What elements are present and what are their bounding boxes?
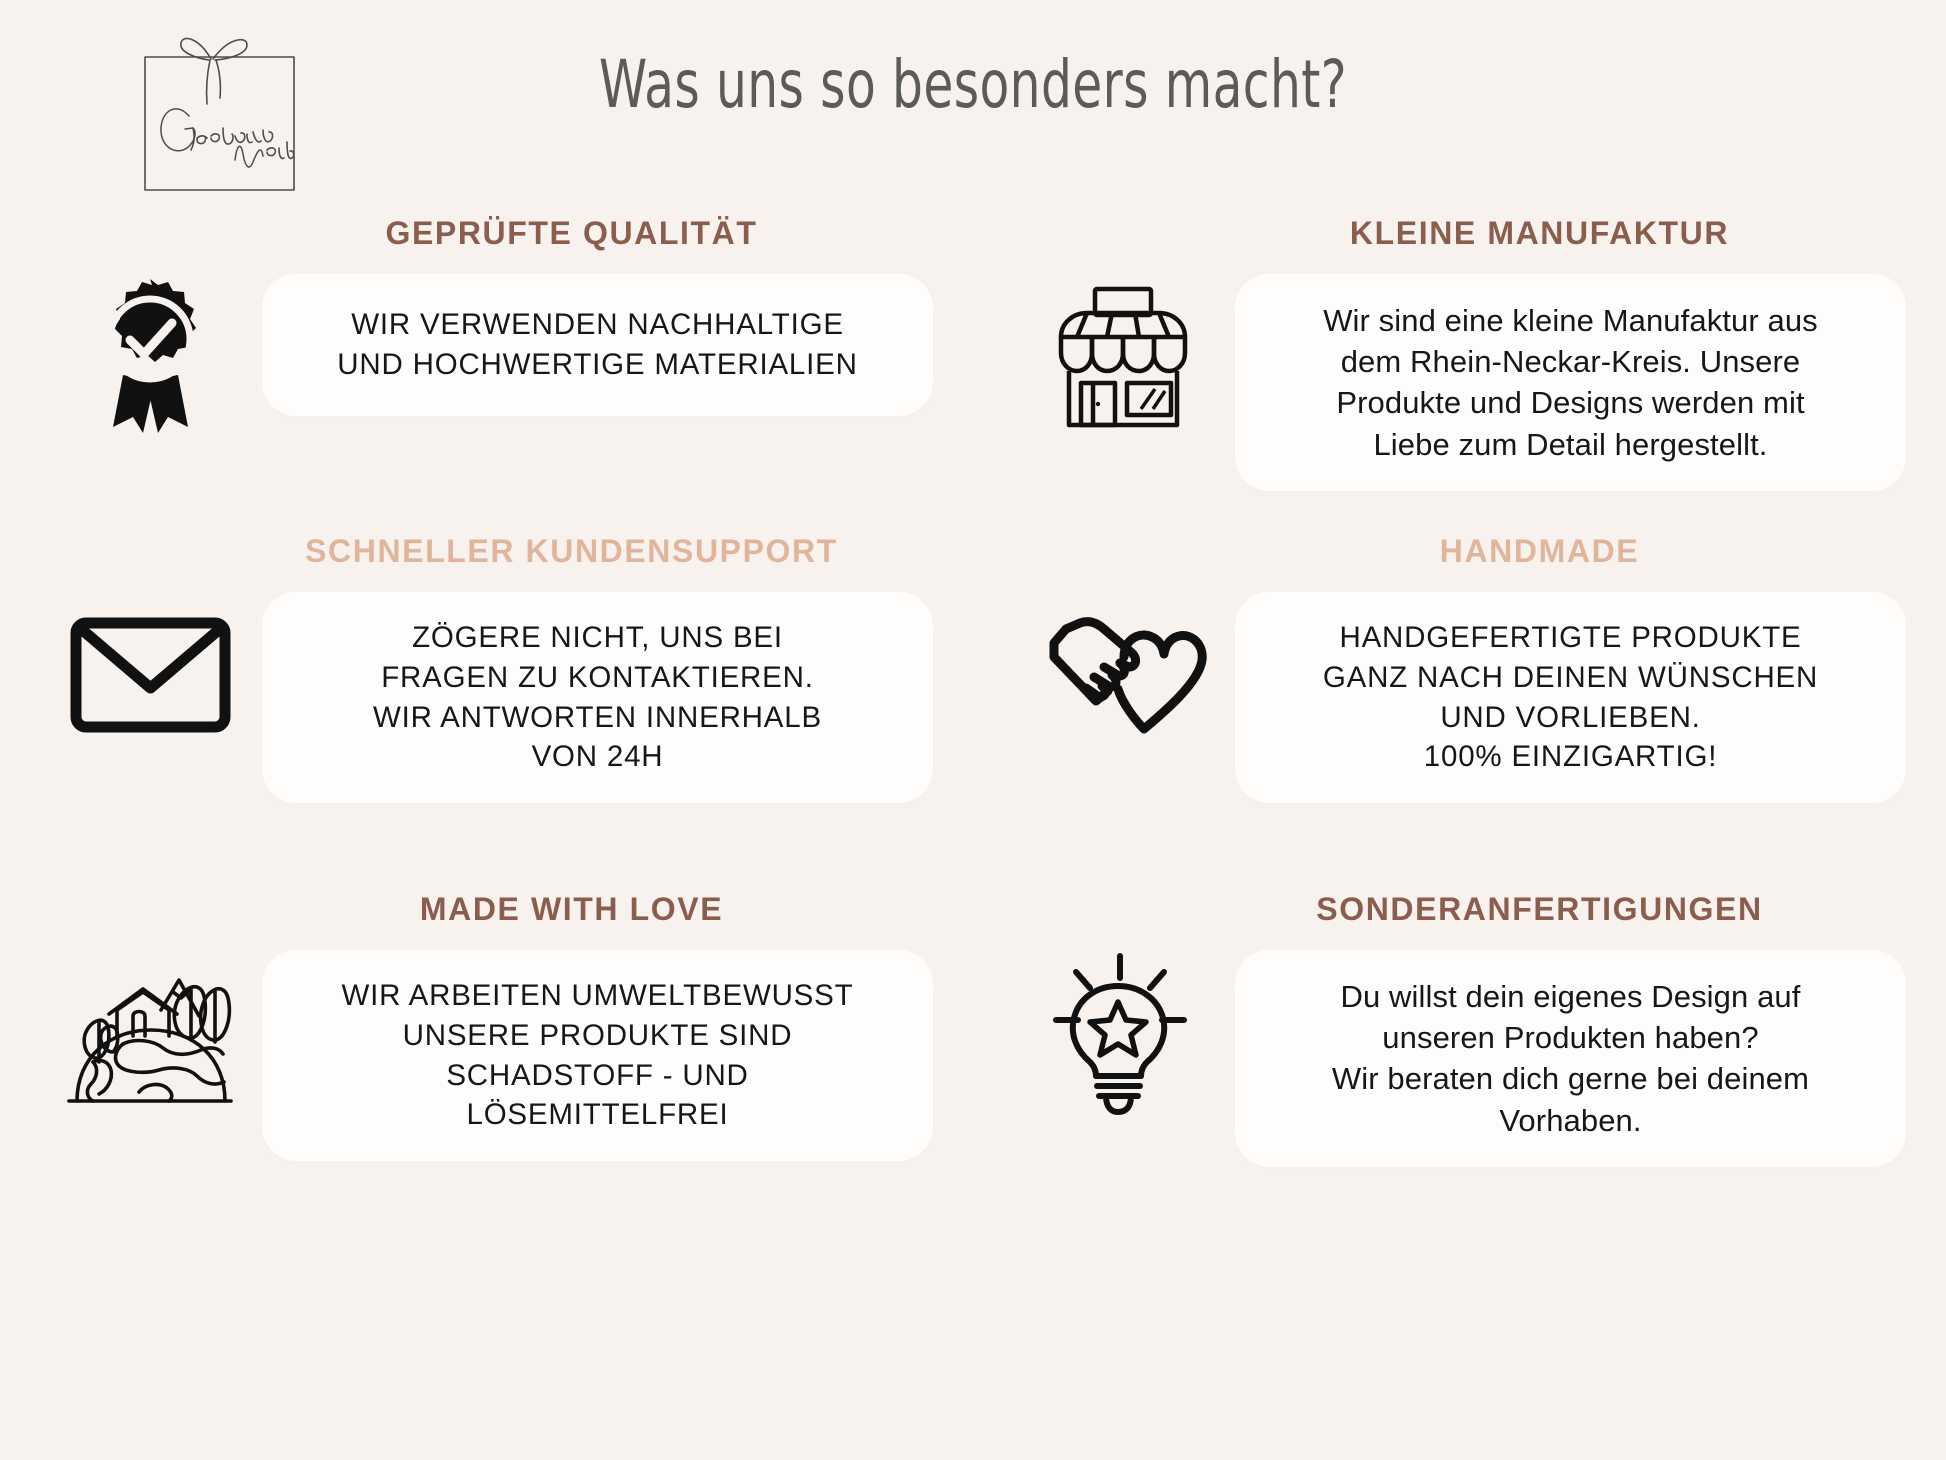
page-header: Was uns so besonders macht? <box>0 0 1946 200</box>
feature-bubble-made-with-love: WIR ARBEITEN UMWELTBEWUSST UNSERE PRODUK… <box>262 950 933 1161</box>
feature-bubble-handmade: HANDGEFERTIGTE PRODUKTE GANZ NACH DEINEN… <box>1235 592 1906 803</box>
feature-text-made-with-love: WIR ARBEITEN UMWELTBEWUSST UNSERE PRODUK… <box>342 976 854 1135</box>
feature-card-made-with-love: MADE WITH LOVE <box>0 891 973 1221</box>
feature-heading-gepruefte-qualitaet: GEPRÜFTE QUALITÄT <box>210 215 933 252</box>
feature-heading-handmade: HANDMADE <box>1173 533 1906 570</box>
feature-heading-schneller-kundensupport: SCHNELLER KUNDENSUPPORT <box>210 533 933 570</box>
feature-card-schneller-kundensupport: SCHNELLER KUNDENSUPPORT ZÖGERE NICHT, UN… <box>0 533 973 891</box>
feature-card-sonderanfertigungen: SONDERANFERTIGUNGEN <box>973 891 1946 1221</box>
feature-bubble-gepruefte-qualitaet: WIR VERWENDEN NACHHALTIGE UND HOCHWERTIG… <box>262 274 933 416</box>
eco-earth-icon <box>60 950 240 1115</box>
page-title: Was uns so besonders macht? <box>175 46 1771 123</box>
storefront-icon <box>1033 274 1213 439</box>
envelope-icon <box>60 592 240 757</box>
feature-grid: GEPRÜFTE QUALITÄT WIR VERWENDEN NACHHALT… <box>0 215 1946 1221</box>
feature-text-gepruefte-qualitaet: WIR VERWENDEN NACHHALTIGE UND HOCHWERTIG… <box>337 305 857 385</box>
feature-bubble-schneller-kundensupport: ZÖGERE NICHT, UNS BEI FRAGEN ZU KONTAKTI… <box>262 592 933 803</box>
feature-text-handmade: HANDGEFERTIGTE PRODUKTE GANZ NACH DEINEN… <box>1323 618 1818 777</box>
feature-card-handmade: HANDMADE HANDGEFERTIGTE PRODUKTE GANZ NA… <box>973 533 1946 891</box>
quality-badge-icon <box>60 274 240 439</box>
feature-heading-kleine-manufaktur: KLEINE MANUFAKTUR <box>1173 215 1906 252</box>
feature-text-sonderanfertigungen: Du willst dein eigenes Design auf unsere… <box>1332 976 1809 1141</box>
feature-heading-made-with-love: MADE WITH LOVE <box>210 891 933 928</box>
feature-card-gepruefte-qualitaet: GEPRÜFTE QUALITÄT WIR VERWENDEN NACHHALT… <box>0 215 973 533</box>
feature-bubble-kleine-manufaktur: Wir sind eine kleine Manufaktur aus dem … <box>1235 274 1906 491</box>
feature-text-schneller-kundensupport: ZÖGERE NICHT, UNS BEI FRAGEN ZU KONTAKTI… <box>373 618 822 777</box>
lightbulb-star-icon <box>1033 950 1213 1115</box>
feature-heading-sonderanfertigungen: SONDERANFERTIGUNGEN <box>1173 891 1906 928</box>
feature-bubble-sonderanfertigungen: Du willst dein eigenes Design auf unsere… <box>1235 950 1906 1167</box>
hand-holding-heart-icon <box>1033 592 1213 757</box>
feature-text-kleine-manufaktur: Wir sind eine kleine Manufaktur aus dem … <box>1323 300 1818 465</box>
feature-card-kleine-manufaktur: KLEINE MANUFAKTUR <box>973 215 1946 533</box>
